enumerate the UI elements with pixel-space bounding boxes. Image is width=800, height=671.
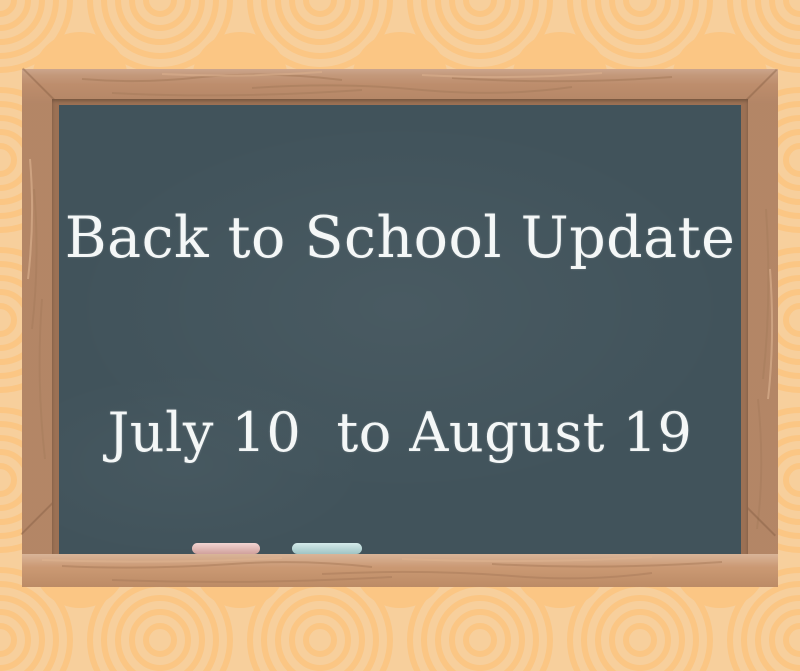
chalkboard-frame: Back to School Update July 10 to August …: [22, 69, 778, 587]
date-range-text: July 10 to August 19: [59, 405, 741, 462]
ledge-wood-grain: [22, 554, 778, 587]
chalkboard-haze: [59, 105, 741, 554]
chalkboard: Back to School Update July 10 to August …: [59, 105, 741, 554]
poster-canvas: Back to School Update July 10 to August …: [0, 0, 800, 671]
chalk-ledge: [22, 554, 778, 587]
chalk-stick-pink: [192, 543, 260, 554]
headline-text: Back to School Update: [59, 209, 741, 269]
chalk-stick-blue: [292, 543, 362, 554]
